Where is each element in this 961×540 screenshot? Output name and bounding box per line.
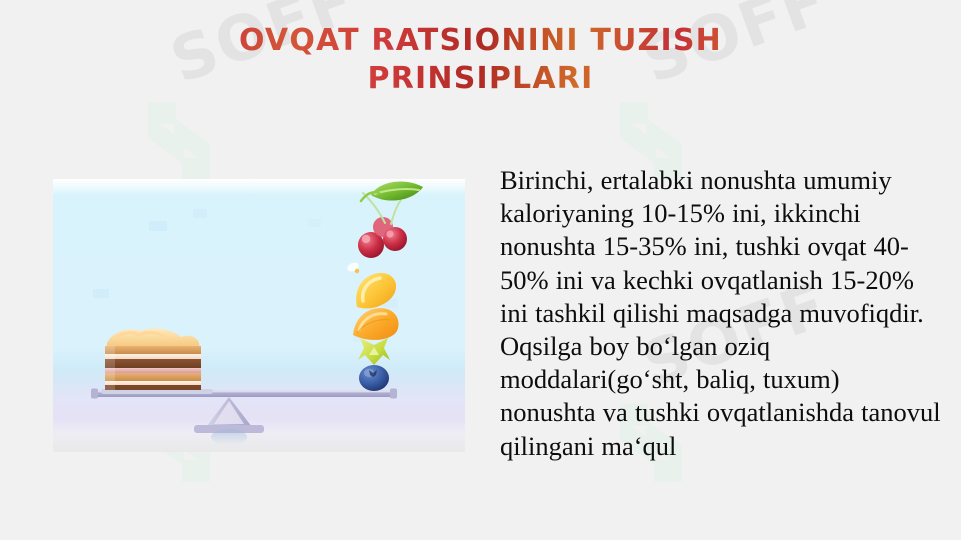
leaf: [361, 181, 423, 201]
watermark-logo-icon: [142, 98, 216, 184]
illustration-balance-cake-vs-fruit: [53, 179, 465, 452]
star-fruit: [358, 338, 390, 365]
cherries: [358, 193, 407, 258]
illustration-svg: [53, 179, 465, 452]
balance-fulcrum: [194, 397, 264, 445]
page-title-line-1: OVQAT RATSIONINI TUZISH: [0, 22, 961, 60]
orange-slice: [353, 308, 399, 340]
blueberry: [359, 365, 389, 391]
page-title: OVQAT RATSIONINI TUZISH PRINSIPLARI: [0, 22, 961, 98]
body-paragraph: Birinchi, ertalabki nonushta umumiy kalo…: [500, 164, 942, 463]
cake-slice: [101, 329, 213, 394]
page-title-line-2: PRINSIPLARI: [0, 60, 961, 98]
fruit-sliver: [346, 261, 360, 273]
fruit-stack: [346, 181, 423, 391]
